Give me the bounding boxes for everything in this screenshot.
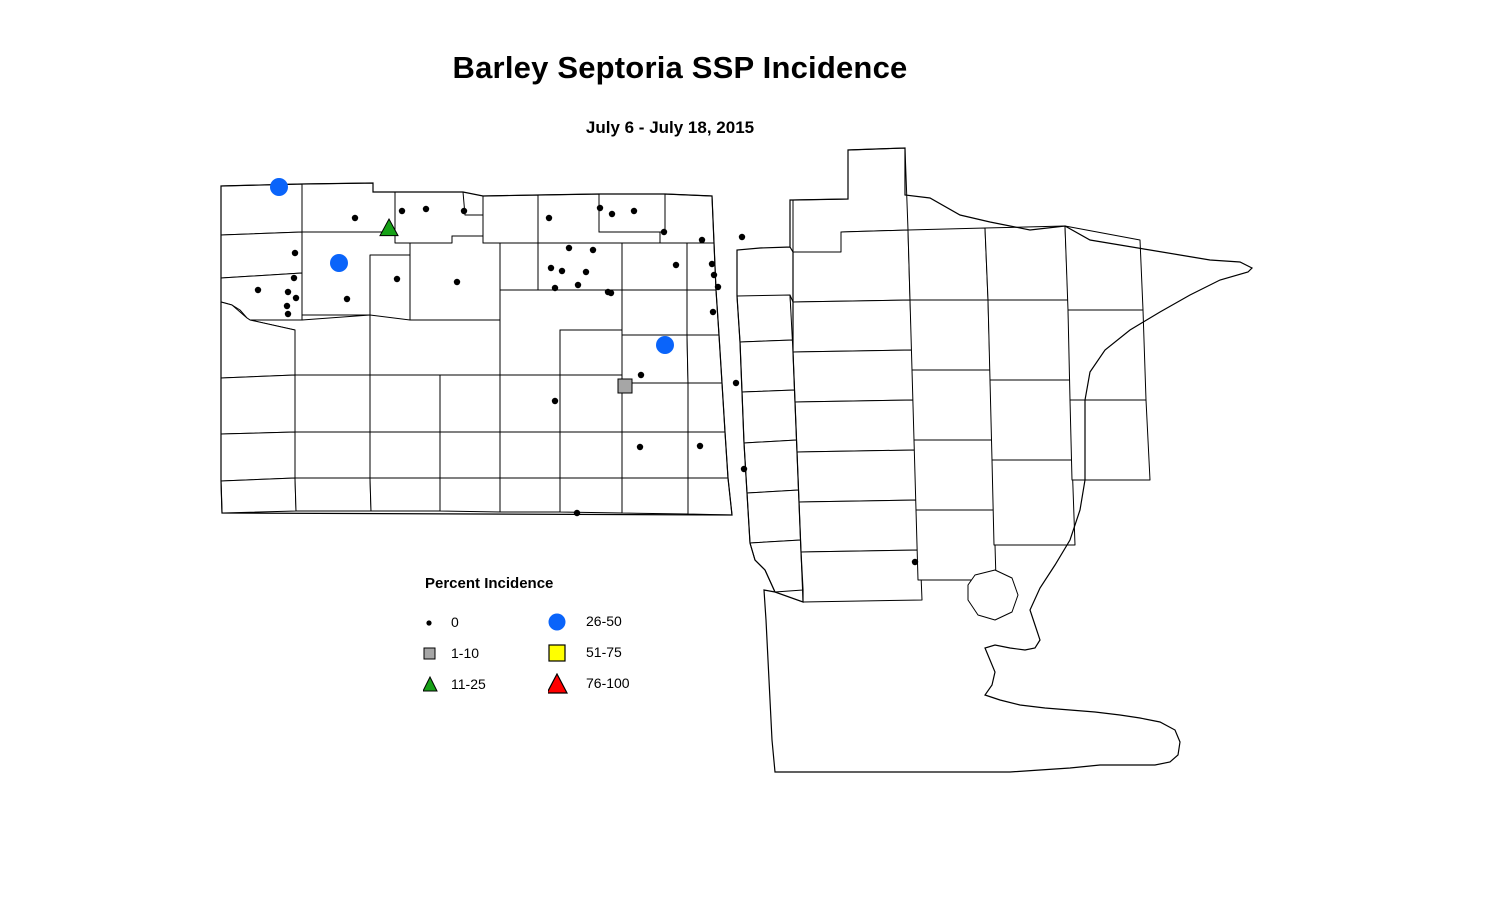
map-point-0 — [399, 208, 405, 214]
page-subtitle: July 6 - July 18, 2015 — [0, 118, 1340, 138]
map-point-0 — [631, 208, 637, 214]
map-point-0 — [673, 262, 679, 268]
map-point-0 — [285, 289, 291, 295]
map-point-0 — [709, 261, 715, 267]
map-point-0 — [608, 290, 614, 296]
map-point-0 — [255, 287, 261, 293]
legend: Percent Incidence 0 1-10 11-25 26-50 51-… — [415, 570, 655, 705]
map-point-26-50 — [330, 254, 348, 272]
legend-symbol-gray-square — [423, 643, 445, 665]
map-point-0 — [699, 237, 705, 243]
legend-title: Percent Incidence — [425, 575, 553, 592]
map-point-0 — [552, 285, 558, 291]
map-point-0 — [609, 211, 615, 217]
map-point-0 — [292, 250, 298, 256]
map-point-0 — [344, 296, 350, 302]
page-title: Barley Septoria SSP Incidence — [0, 50, 1360, 86]
map-point-0 — [548, 265, 554, 271]
map-point-0 — [575, 282, 581, 288]
legend-label-76-100: 76-100 — [586, 675, 630, 691]
map-point-0 — [739, 234, 745, 240]
map-point-0 — [566, 245, 572, 251]
map-point-0 — [352, 215, 358, 221]
legend-symbol-red-triangle — [548, 673, 570, 695]
map-point-0 — [733, 380, 739, 386]
minnesota-counties — [737, 148, 1150, 602]
legend-symbol-blue-circle — [548, 611, 570, 633]
map-point-0 — [284, 303, 290, 309]
map-point-0 — [912, 559, 918, 565]
map-point-0 — [661, 229, 667, 235]
north-dakota-counties — [221, 183, 732, 515]
lake-boundaries — [968, 570, 1018, 620]
map-point-0 — [638, 372, 644, 378]
map-point-0 — [697, 443, 703, 449]
legend-symbol-yellow-square — [548, 642, 570, 664]
legend-label-26-50: 26-50 — [586, 613, 622, 629]
map-point-26-50 — [656, 336, 674, 354]
legend-label-1-10: 1-10 — [451, 645, 479, 661]
map-point-0 — [710, 309, 716, 315]
map-point-0 — [293, 295, 299, 301]
map-point-0 — [711, 272, 717, 278]
map-point-0 — [423, 206, 429, 212]
map-point-0 — [394, 276, 400, 282]
map-point-1-10 — [618, 379, 632, 393]
map-point-26-50 — [270, 178, 288, 196]
map-point-0 — [454, 279, 460, 285]
map-point-0 — [291, 275, 297, 281]
map-point-0 — [559, 268, 565, 274]
map-point-0 — [546, 215, 552, 221]
map-point-0 — [552, 398, 558, 404]
map-point-0 — [574, 510, 580, 516]
map-point-0 — [583, 269, 589, 275]
map-point-0 — [461, 208, 467, 214]
map-point-0 — [715, 284, 721, 290]
legend-symbol-small-dot — [423, 612, 445, 634]
map-point-0 — [597, 205, 603, 211]
legend-label-11-25: 11-25 — [451, 676, 486, 692]
legend-symbol-green-triangle — [423, 674, 445, 696]
legend-label-51-75: 51-75 — [586, 644, 622, 660]
legend-label-0: 0 — [451, 614, 459, 630]
map-point-0 — [590, 247, 596, 253]
map-point-0 — [741, 466, 747, 472]
map-point-0 — [285, 311, 291, 317]
map-point-0 — [637, 444, 643, 450]
